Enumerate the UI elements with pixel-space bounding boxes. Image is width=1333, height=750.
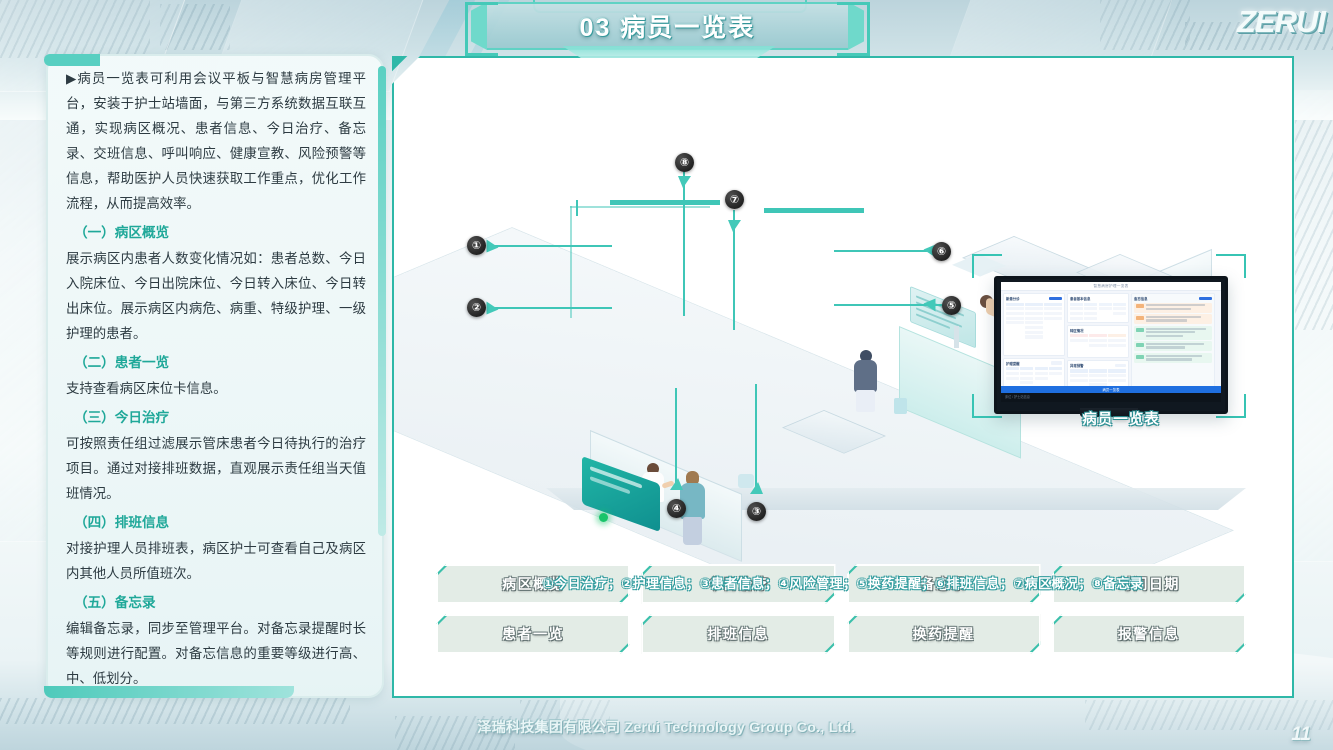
tablet-bracket-tr <box>1216 254 1246 278</box>
title-banner: 03 病员一览表 <box>465 2 870 50</box>
tablet-memo-item[interactable] <box>1134 303 1212 313</box>
section-body-5: 编辑备忘录，同步至管理平台。对备忘录提醒时长等规则进行配置。对备忘信息的重要等级… <box>66 616 366 684</box>
tablet-bottom-bar-label: 病员一览表 <box>1103 387 1120 392</box>
company-logo: ZERUI <box>1209 2 1325 42</box>
tablet-card-title: 备忘信息 <box>1134 296 1148 301</box>
tablet-memo-item[interactable] <box>1134 341 1212 351</box>
feature-button-dressing-reminder[interactable]: 换药提醒 <box>847 614 1041 654</box>
description-intro: ▶病员一览表可利用会议平板与智慧病房管理平台，安装于护士站墙面，与第三方系统数据… <box>66 66 366 216</box>
page-header: 03 病员一览表 <box>0 0 1333 56</box>
feature-button-shift-info[interactable]: 排班信息 <box>641 614 835 654</box>
page-number: 11 <box>1291 724 1311 746</box>
page-footer: 泽瑞科技集团有限公司 Zerui Technology Group Co., L… <box>0 704 1333 750</box>
section-body-1: 展示病区内患者人数变化情况如：患者总数、今日入院床位、今日出院床位、今日转入床位… <box>66 246 366 346</box>
description-panel: ▶病员一览表可利用会议平板与智慧病房管理平台，安装于护士站墙面，与第三方系统数据… <box>46 54 384 698</box>
feature-button-label: 排班信息 <box>707 624 769 644</box>
callout-marker-2: ② <box>467 298 486 317</box>
tablet-card-title: 新患分诊 <box>1006 296 1020 301</box>
callout-marker-8: ⑧ <box>675 153 694 172</box>
tablet-card-transfer[interactable]: 转区情况 <box>1067 325 1129 358</box>
callout-line-3 <box>755 384 757 492</box>
tablet-card-triage[interactable]: 新患分诊 <box>1003 293 1065 356</box>
callout-connector-v <box>570 206 572 318</box>
callout-connector-tick <box>576 200 578 216</box>
scene-box-prop <box>894 398 907 414</box>
tablet-memo-item[interactable] <box>1134 314 1212 324</box>
section-heading-4: （四）排班信息 <box>66 509 366 536</box>
feature-button-label: 换药提醒 <box>913 624 975 644</box>
tablet-card-title: 转区情况 <box>1070 328 1084 333</box>
illustration-stage: 智慧病房护理一览表 新患分诊 <box>394 58 1292 578</box>
callout-connector-h <box>570 206 710 208</box>
device-label: 病员一览表 <box>1066 408 1176 429</box>
tablet-memo-item[interactable] <box>1134 326 1212 340</box>
tablet-card-title: 患者基本信息 <box>1070 296 1090 301</box>
callout-legend: ①今日治疗；②护理信息；③患者信息；④风险管理；⑤换药提醒；⑥排班信息；⑦病区概… <box>394 573 1292 592</box>
tablet-card-title: 异常预警 <box>1070 363 1084 368</box>
tablet-card-title: 护理提醒 <box>1006 361 1020 366</box>
section-heading-3: （三）今日治疗 <box>66 404 366 431</box>
section-heading-5: （五）备忘录 <box>66 589 366 616</box>
tablet-memo-item[interactable] <box>1134 353 1212 363</box>
background-stripes-right <box>1295 120 1333 330</box>
tablet-card-pill[interactable] <box>1199 297 1212 301</box>
tablet-screen[interactable]: 智慧病房护理一览表 新患分诊 <box>1001 282 1221 402</box>
panel-accent-right <box>378 66 386 536</box>
tablet-card-pill2[interactable] <box>1051 361 1062 365</box>
tablet-header: 智慧病房护理一览表 <box>1001 282 1221 291</box>
tablet-card-memo[interactable]: 备忘信息 <box>1131 293 1215 393</box>
scene-trash-bin <box>738 474 754 488</box>
page-title: 03 病员一览表 <box>465 2 870 50</box>
callout-marker-6: ⑥ <box>932 242 951 261</box>
tablet-status-text: 床位 / 护士站信息 <box>1001 393 1221 402</box>
tablet-bracket-tl <box>972 254 1002 278</box>
section-body-2: 支持查看病区床位卡信息。 <box>66 376 366 401</box>
section-heading-2: （二）患者一览 <box>66 349 366 376</box>
tablet-bottom-bar[interactable]: 病员一览表 <box>1001 386 1221 393</box>
tablet-column-left: 新患分诊 护理提醒 <box>1003 293 1065 393</box>
section-body-4: 对接护理人员排班表，病区护士可查看自己及病区内其他人员所值班次。 <box>66 536 366 586</box>
callout-marker-5: ⑤ <box>942 296 961 315</box>
callout-connector-bar2 <box>764 208 864 213</box>
section-heading-1: （一）病区概览 <box>66 219 366 246</box>
tablet-card-patient-info[interactable]: 患者基本信息 <box>1067 293 1129 323</box>
callout-marker-7: ⑦ <box>725 190 744 209</box>
tablet-header-title: 智慧病房护理一览表 <box>1093 284 1128 289</box>
tablet-card-pill2[interactable] <box>1115 364 1126 368</box>
callout-line-4 <box>675 388 677 488</box>
tablet-column-mid: 患者基本信息 转区情况 异常预 <box>1067 293 1129 393</box>
feature-button-alarm-info[interactable]: 报警信息 <box>1052 614 1246 654</box>
callout-marker-4: ④ <box>667 499 686 518</box>
section-body-3: 可按照责任组过滤展示管床患者今日待执行的治疗项目。通过对接排班数据，直观展示责任… <box>66 431 366 506</box>
status-indicator-dot <box>599 513 608 522</box>
feature-button-label: 患者一览 <box>502 624 564 644</box>
tablet-dashboard: 新患分诊 护理提醒 <box>1001 291 1221 395</box>
callout-line-2 <box>492 307 612 309</box>
footer-company-name: 泽瑞科技集团有限公司 Zerui Technology Group Co., L… <box>477 717 855 737</box>
title-skirt <box>553 46 785 58</box>
description-body: ▶病员一览表可利用会议平板与智慧病房管理平台，安装于护士站墙面，与第三方系统数据… <box>66 66 366 684</box>
illustration-panel: 智慧病房护理一览表 新患分诊 <box>392 56 1294 698</box>
callout-marker-3: ③ <box>747 502 766 521</box>
panel-accent-bottom <box>44 686 294 698</box>
tablet-device[interactable]: 智慧病房护理一览表 新患分诊 <box>994 276 1228 414</box>
feature-button-patient-list[interactable]: 患者一览 <box>436 614 630 654</box>
callout-marker-1: ① <box>467 236 486 255</box>
callout-line-8 <box>683 166 685 316</box>
callout-connector-bar <box>610 200 720 205</box>
callout-line-1 <box>492 245 612 247</box>
tablet-status-bar: 床位 / 护士站信息 <box>1001 393 1221 402</box>
feature-button-label: 报警信息 <box>1118 624 1180 644</box>
tablet-card-pill[interactable] <box>1049 297 1062 301</box>
